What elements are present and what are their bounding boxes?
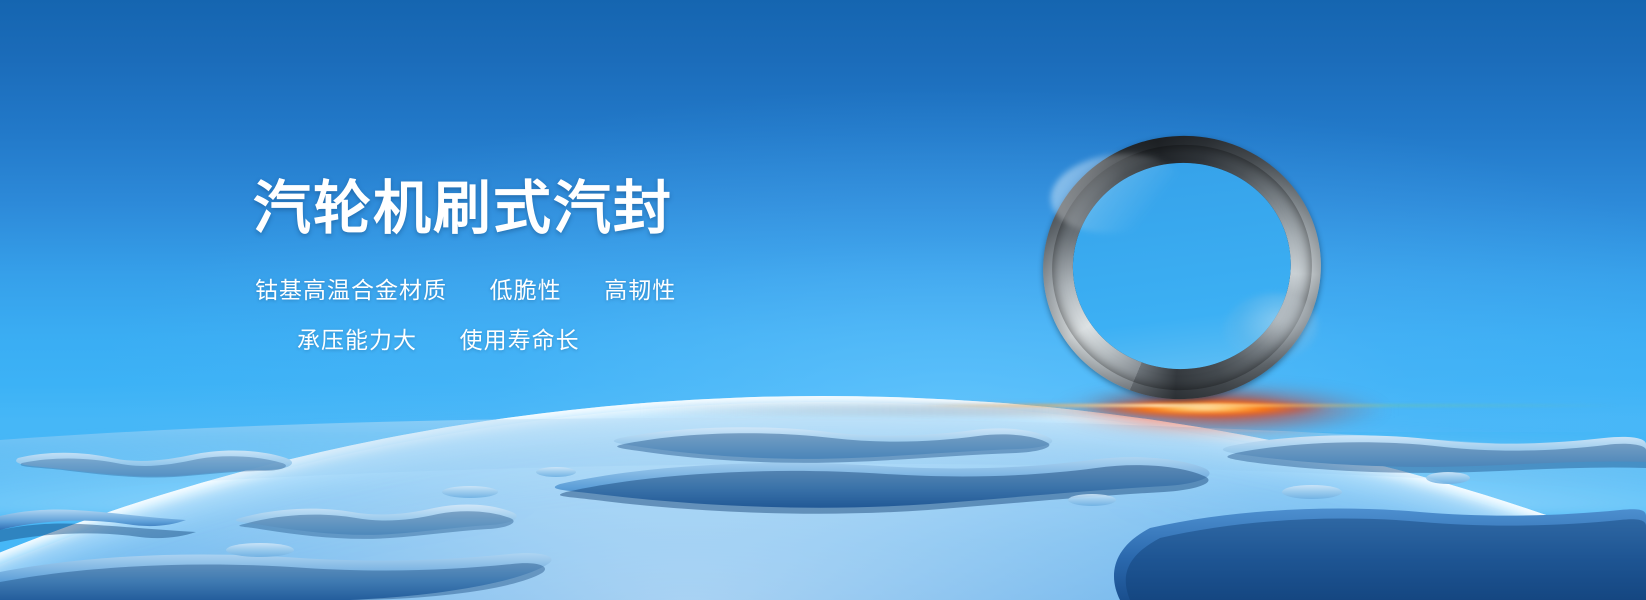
product-hero-banner: 汽轮机刷式汽封 钴基高温合金材质 低脆性 高韧性 承压能力大 使用寿命长 xyxy=(0,0,1646,600)
ring-bore xyxy=(1061,150,1302,381)
earth-sphere xyxy=(0,402,1646,600)
earth-scene xyxy=(0,0,1646,600)
product-image-seal-ring xyxy=(1028,120,1336,415)
ring-bore-background xyxy=(1061,150,1302,381)
